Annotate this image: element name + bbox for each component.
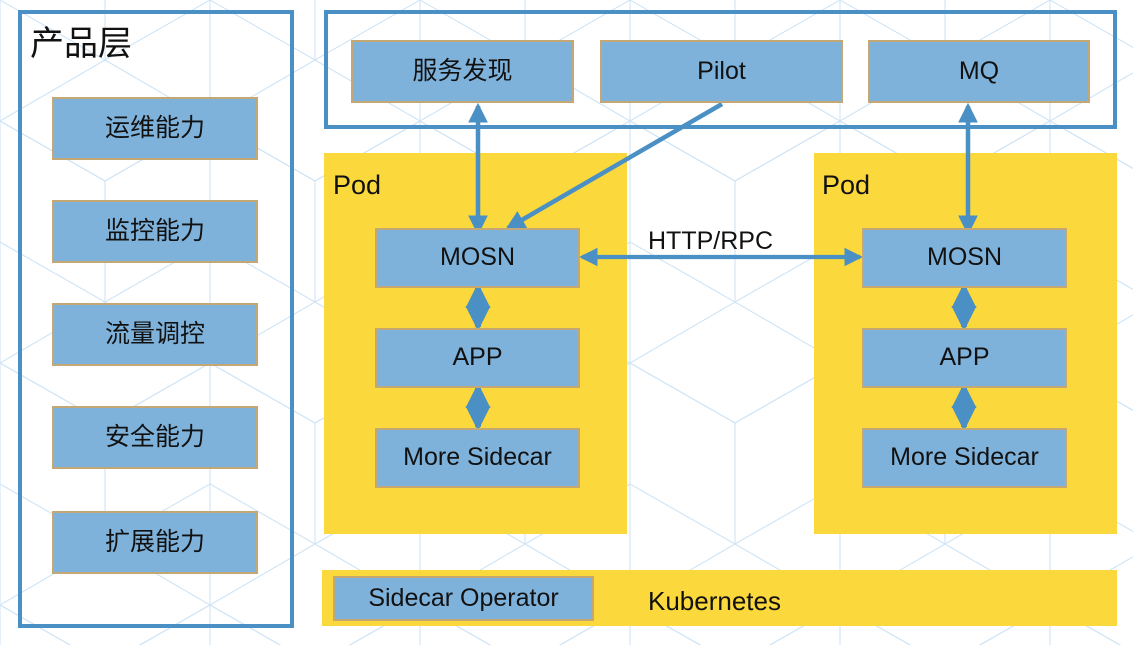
pod-left-app[interactable]: APP — [375, 328, 580, 388]
pod-right-app[interactable]: APP — [862, 328, 1067, 388]
pod-left-label: Pod — [333, 170, 381, 201]
control-plane-pilot[interactable]: Pilot — [600, 40, 843, 103]
product-item-monitoring[interactable]: 监控能力 — [52, 200, 258, 263]
pod-right-label: Pod — [822, 170, 870, 201]
control-plane-service-discovery[interactable]: 服务发现 — [351, 40, 574, 103]
control-plane-mq[interactable]: MQ — [868, 40, 1090, 103]
product-item-extensibility[interactable]: 扩展能力 — [52, 511, 258, 574]
diagram-canvas: 产品层 运维能力 监控能力 流量调控 安全能力 扩展能力 服务发现 Pilot … — [0, 0, 1133, 645]
pod-right-mosn[interactable]: MOSN — [862, 228, 1067, 288]
pod-left-more-sidecar[interactable]: More Sidecar — [375, 428, 580, 488]
pod-left-mosn[interactable]: MOSN — [375, 228, 580, 288]
sidecar-operator-box[interactable]: Sidecar Operator — [333, 576, 594, 621]
product-item-traffic-control[interactable]: 流量调控 — [52, 303, 258, 366]
kubernetes-label: Kubernetes — [648, 586, 781, 617]
http-rpc-label: HTTP/RPC — [648, 227, 773, 256]
product-layer-title: 产品层 — [30, 16, 132, 65]
product-item-security[interactable]: 安全能力 — [52, 406, 258, 469]
product-item-ops[interactable]: 运维能力 — [52, 97, 258, 160]
pod-right-more-sidecar[interactable]: More Sidecar — [862, 428, 1067, 488]
